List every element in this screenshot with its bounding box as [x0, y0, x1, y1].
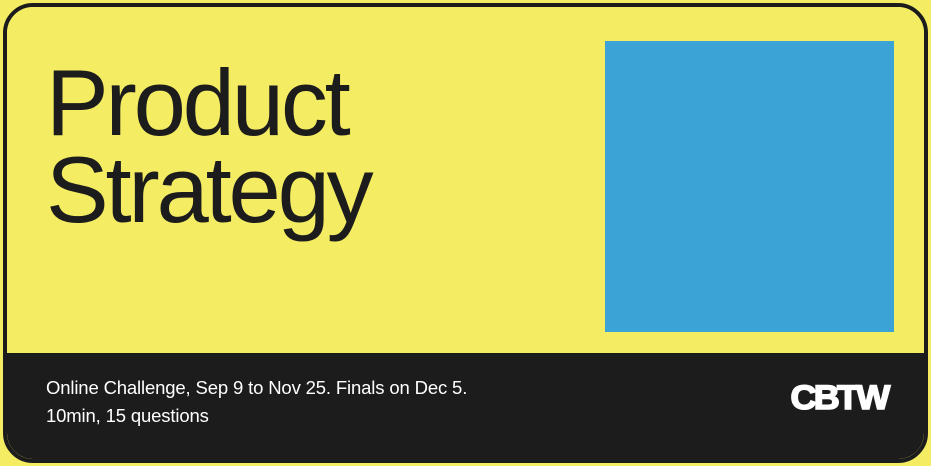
card-body: Product Strategy — [7, 7, 924, 359]
blue-square-graphic — [605, 41, 894, 332]
event-format-line: 10min, 15 questions — [46, 402, 467, 430]
page-title: Product Strategy — [46, 59, 370, 234]
promo-card: Product Strategy Online Challenge, Sep 9… — [3, 3, 928, 463]
event-details: Online Challenge, Sep 9 to Nov 25. Final… — [46, 374, 467, 430]
cbtw-logo: CBTW — [791, 381, 888, 415]
event-schedule-line: Online Challenge, Sep 9 to Nov 25. Final… — [46, 374, 467, 402]
card-footer: Online Challenge, Sep 9 to Nov 25. Final… — [7, 353, 924, 459]
